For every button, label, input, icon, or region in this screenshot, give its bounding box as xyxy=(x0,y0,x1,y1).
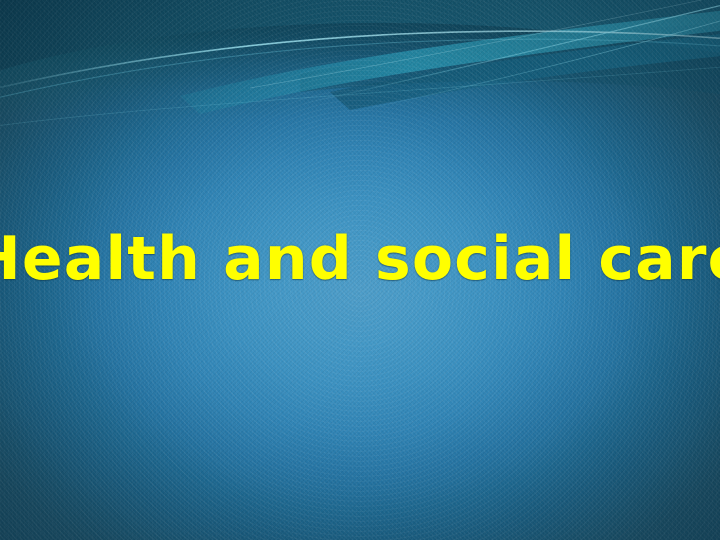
presentation-slide: Health and social care xyxy=(0,0,720,540)
slide-title: Health and social care xyxy=(0,229,720,289)
title-placeholder: Health and social care xyxy=(0,222,720,296)
